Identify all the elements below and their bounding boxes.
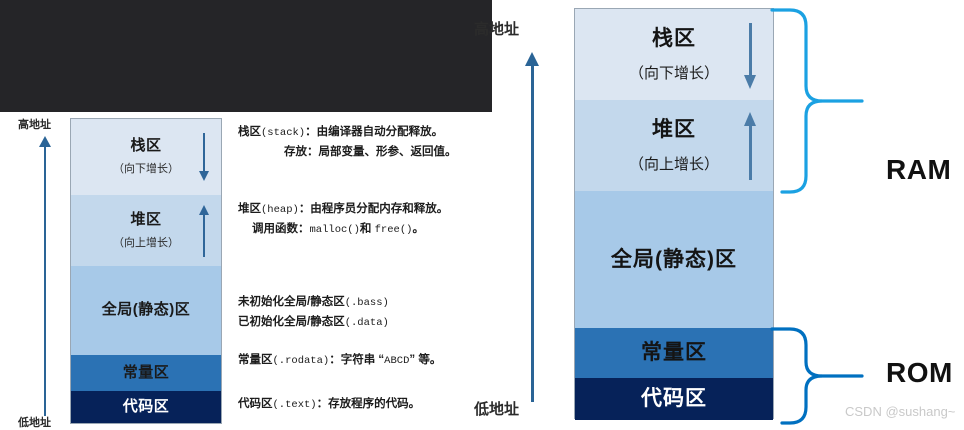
annotation-stack-desc: ：由编译器自动分配释放。: [305, 126, 443, 138]
annotation-const: 常量区(.rodata)：字符串 “ABCD” 等。: [238, 350, 441, 370]
left-memory-column: 栈区 （向下增长） 堆区 （向上增长） 全局(静态)区 常量区: [70, 118, 222, 424]
annotation-const-desc: ：字符串 “: [329, 354, 384, 366]
right-high-address-label: 高地址: [474, 18, 519, 39]
right-segment-code-title: 代码区: [641, 386, 707, 411]
csdn-watermark: CSDN @sushang~: [845, 404, 955, 419]
annotation-stack-term: 栈区: [238, 126, 261, 138]
left-segment-code-title: 代码区: [123, 398, 170, 417]
right-segment-global: 全局(静态)区: [575, 191, 773, 328]
annotation-data-symbol: (.data): [345, 317, 389, 329]
left-segment-stack: 栈区 （向下增长）: [71, 119, 221, 195]
left-heap-up-arrow-icon: [199, 205, 209, 257]
rom-label: ROM: [886, 357, 953, 389]
annotation-bss-term: 未初始化全局/静态区: [238, 296, 345, 308]
right-segment-heap-subtitle: （向上增长）: [629, 156, 719, 174]
annotation-bss-symbol: (.bass): [345, 297, 389, 309]
annotation-heap-symbol: (heap): [261, 204, 299, 216]
screenshot-canvas: 高地址 低地址 栈区 （向下增长） 堆区 （向上增长）: [0, 0, 964, 430]
right-segment-stack: 栈区 （向下增长）: [575, 9, 773, 100]
right-axis-arrowhead: [525, 52, 539, 66]
annotation-heap-conj: 和: [360, 223, 375, 235]
left-segment-global: 全局(静态)区: [71, 266, 221, 355]
right-segment-heap-title: 堆区: [652, 117, 696, 142]
ram-label: RAM: [886, 154, 951, 186]
annotation-heap-term: 堆区: [238, 203, 261, 215]
right-segment-global-title: 全局(静态)区: [611, 247, 737, 272]
annotation-heap-desc: ：由程序员分配内存和释放。: [299, 203, 449, 215]
left-low-address-label: 低地址: [18, 414, 51, 430]
annotation-heap-free: free(): [375, 224, 413, 236]
left-stack-down-arrow-icon: [199, 133, 209, 183]
left-segment-code: 代码区: [71, 391, 221, 423]
annotation-const-example: ABCD: [384, 355, 409, 367]
right-segment-heap: 堆区 （向上增长）: [575, 100, 773, 191]
left-segment-heap: 堆区 （向上增长）: [71, 195, 221, 266]
dark-backdrop: [0, 0, 492, 112]
annotation-stack-desc2: 存放：局部变量、形参、返回值。: [284, 146, 457, 158]
left-segment-stack-title: 栈区: [130, 137, 161, 156]
ram-brace-icon: [770, 6, 890, 196]
right-low-address-label: 低地址: [474, 398, 519, 419]
left-memory-figure: 高地址 低地址 栈区 （向下增长） 堆区 （向上增长）: [10, 112, 492, 430]
annotation-stack: 栈区(stack)：由编译器自动分配释放。 存放：局部变量、形参、返回值。: [238, 122, 457, 161]
right-stack-down-arrow-icon: [744, 23, 757, 89]
annotation-const-symbol: (.rodata): [273, 355, 330, 367]
left-segment-global-title: 全局(静态)区: [102, 301, 191, 320]
annotation-code: 代码区(.text)：存放程序的代码。: [238, 394, 420, 414]
annotation-code-term: 代码区: [238, 398, 273, 410]
annotation-heap: 堆区(heap)：由程序员分配内存和释放。 调用函数：malloc()和 fre…: [238, 199, 448, 239]
left-segment-const: 常量区: [71, 355, 221, 391]
annotation-heap-call-label: 调用函数：: [252, 223, 310, 235]
right-memory-column: 栈区 （向下增长） 堆区 （向上增长） 全局(静态)区 常量区 代码区: [574, 8, 774, 419]
annotation-const-term: 常量区: [238, 354, 273, 366]
left-segment-heap-subtitle: （向上增长）: [113, 236, 179, 250]
right-address-axis: [525, 52, 541, 402]
left-segment-stack-subtitle: （向下增长）: [113, 162, 179, 176]
annotation-stack-symbol: (stack): [261, 127, 305, 139]
left-axis-arrowhead: [39, 136, 51, 147]
right-segment-stack-subtitle: （向下增长）: [629, 65, 719, 83]
annotation-code-desc: ：存放程序的代码。: [317, 398, 421, 410]
right-segment-code: 代码区: [575, 378, 773, 420]
annotation-data-term: 已初始化全局/静态区: [238, 316, 345, 328]
left-address-axis: [39, 136, 51, 416]
right-heap-up-arrow-icon: [744, 112, 757, 180]
left-segment-const-title: 常量区: [123, 364, 170, 383]
annotation-heap-period: 。: [412, 223, 424, 235]
annotation-const-tail: ” 等。: [409, 354, 441, 366]
right-segment-const-title: 常量区: [641, 340, 707, 365]
left-segment-heap-title: 堆区: [130, 211, 161, 230]
annotation-code-symbol: (.text): [273, 399, 317, 411]
annotation-global: 未初始化全局/静态区(.bass) 已初始化全局/静态区(.data): [238, 292, 389, 332]
right-segment-const: 常量区: [575, 328, 773, 378]
right-segment-stack-title: 栈区: [652, 26, 696, 51]
left-high-address-label: 高地址: [18, 116, 51, 132]
annotation-heap-malloc: malloc(): [310, 224, 360, 236]
